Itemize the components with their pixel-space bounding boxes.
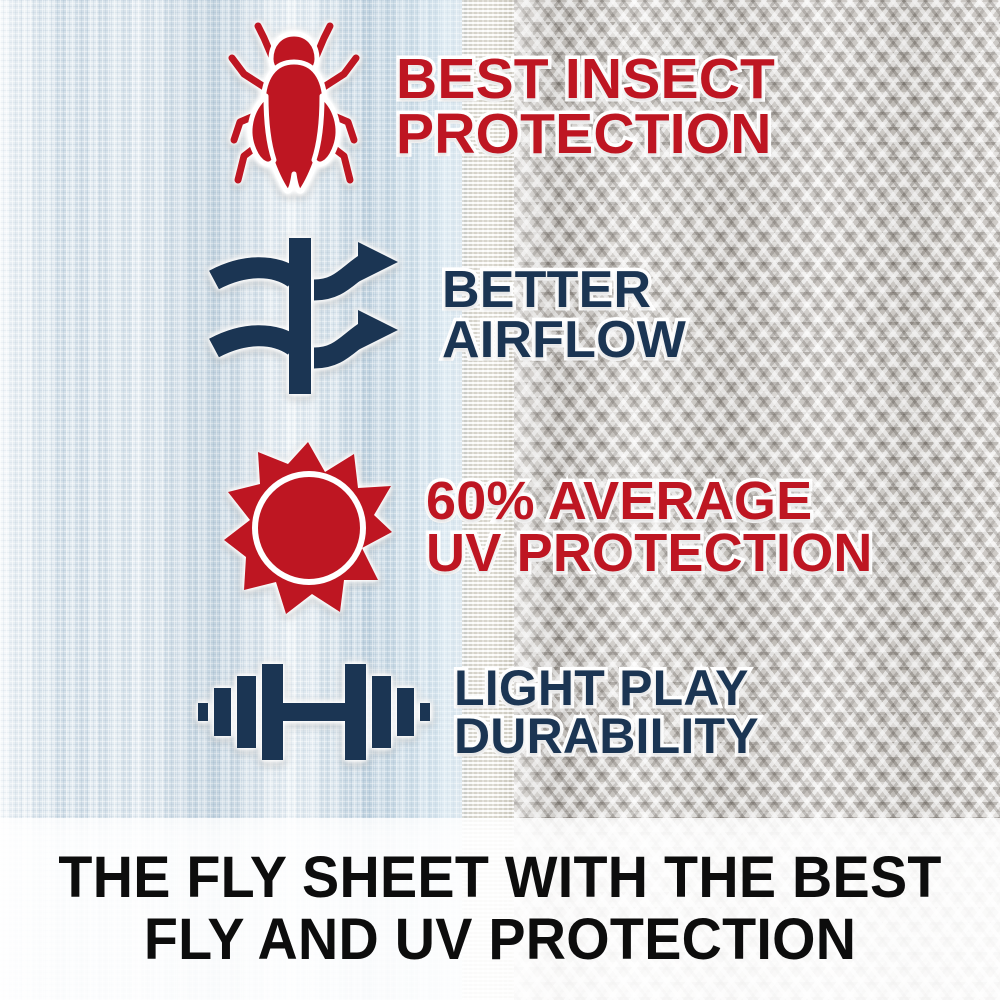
feature-row-better-airflow: BETTER AIRFLOW [208,238,686,394]
caption-line-2: FLY AND UV PROTECTION [144,910,856,970]
feature-label-line: DURABILITY [454,712,759,760]
feature-label-line: BEST INSECT [396,52,775,107]
fly-icon [224,18,364,196]
airflow-icon [208,238,406,394]
caption-line-1: THE FLY SHEET WITH THE BEST [58,848,941,908]
feature-label-line: 60% AVERAGE [426,476,873,528]
bottom-caption-band: THE FLY SHEET WITH THE BEST FLY AND UV P… [0,818,1000,1000]
feature-label-line: PROTECTION [396,107,775,162]
feature-row-light-play-durability: LIGHT PLAY DURABILITY [196,658,759,766]
feature-row-uv-protection: 60% AVERAGE UV PROTECTION [222,440,873,616]
feature-label-better-airflow: BETTER AIRFLOW [442,266,686,366]
dumbbell-icon [196,658,432,766]
sun-icon [222,440,394,616]
feature-row-insect-protection: BEST INSECT PROTECTION [224,18,775,196]
feature-label-insect-protection: BEST INSECT PROTECTION [396,52,775,161]
feature-label-line: AIRFLOW [442,316,686,366]
infographic-canvas: BEST INSECT PROTECTION [0,0,1000,1000]
feature-label-line: BETTER [442,266,686,316]
feature-label-uv-protection: 60% AVERAGE UV PROTECTION [426,476,873,580]
feature-label-light-play-durability: LIGHT PLAY DURABILITY [454,664,759,760]
feature-label-line: UV PROTECTION [426,528,873,580]
feature-label-line: LIGHT PLAY [454,664,759,712]
